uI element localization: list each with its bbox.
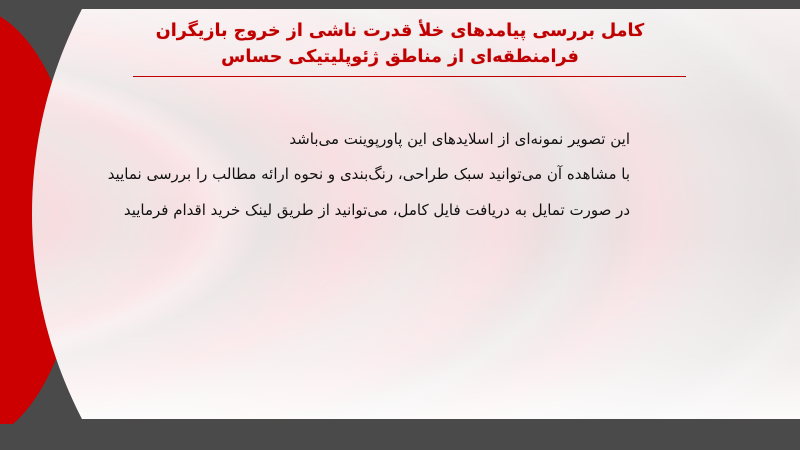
slide-body: این تصویر نمونه‌ای از اسلایدهای این پاور… xyxy=(40,122,630,228)
presentation-slide: کامل بررسی پیامدهای خلأ قدرت ناشی از خرو… xyxy=(0,0,800,450)
title-line-2: فرامنطقه‌ای از مناطق ژئوپلیتیکی حساس xyxy=(22,44,778,70)
body-line-3: در صورت تمایل به دریافت فایل کامل، می‌تو… xyxy=(40,193,630,228)
frame-bottom-band xyxy=(0,424,800,450)
title-underline xyxy=(133,76,686,77)
body-line-2: با مشاهده آن می‌توانید سبک طراحی، رنگ‌بن… xyxy=(40,157,630,192)
slide-title: کامل بررسی پیامدهای خلأ قدرت ناشی از خرو… xyxy=(22,18,778,71)
body-line-1: این تصویر نمونه‌ای از اسلایدهای این پاور… xyxy=(40,122,630,157)
title-line-1: کامل بررسی پیامدهای خلأ قدرت ناشی از خرو… xyxy=(22,18,778,44)
